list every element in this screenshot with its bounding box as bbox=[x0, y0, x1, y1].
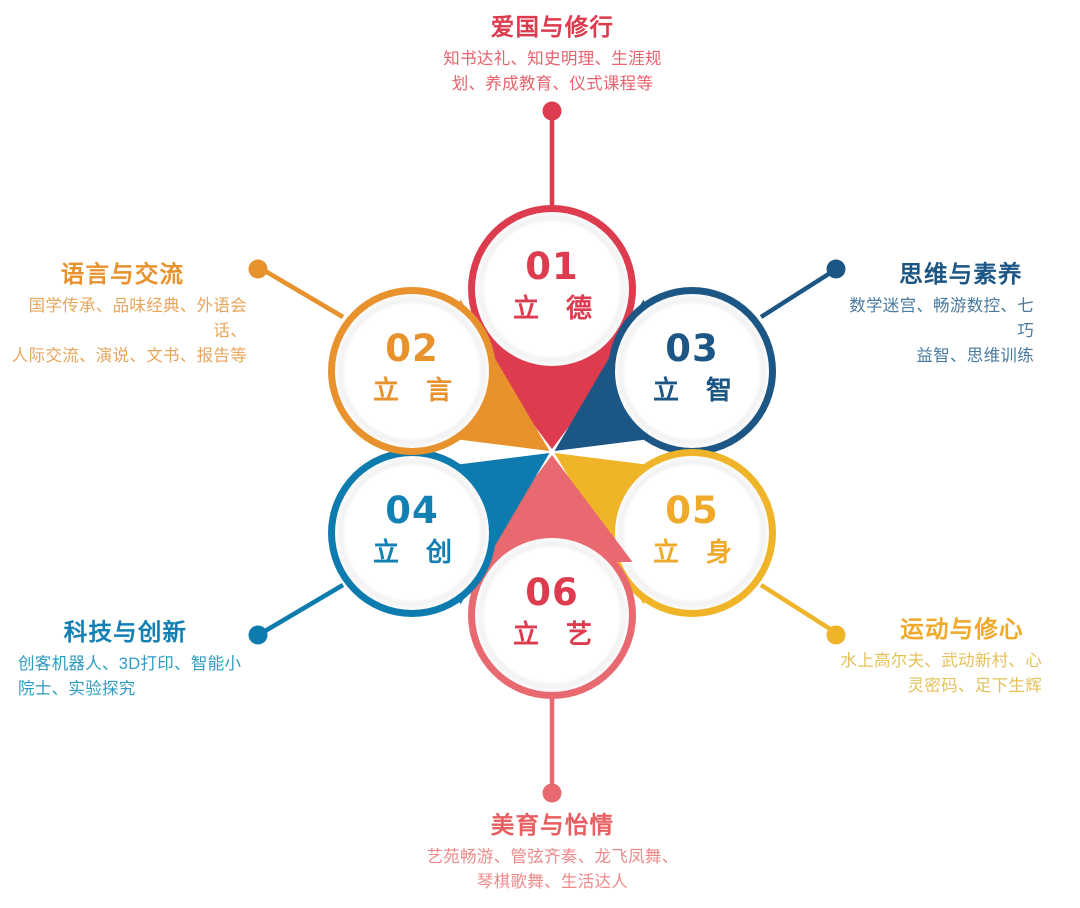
connector-line-02 bbox=[260, 268, 343, 317]
petal-03-word: 立 智 bbox=[653, 375, 741, 406]
label-desc-bottom-line2: 琴棋歌舞、生活达人 bbox=[390, 870, 715, 895]
petal-03-inner bbox=[615, 294, 769, 448]
petal-04-inner bbox=[335, 456, 489, 610]
petal-06-word: 立 艺 bbox=[513, 619, 601, 650]
label-title-top: 爱国与修行 bbox=[390, 8, 715, 42]
label-group-top: 爱国与修行 知书达礼、知史明理、生涯规 划、养成教育、仪式课程等 bbox=[390, 8, 715, 97]
label-desc-top-line2: 划、养成教育、仪式课程等 bbox=[390, 72, 715, 97]
connector-line-03 bbox=[761, 268, 838, 317]
diagram-canvas: 01 立 德 03 立 智 05 立 身 bbox=[0, 0, 1080, 908]
label-group-lower-right: 运动与修心 水上高尔夫、武动新村、心 灵密码、足下生辉 bbox=[838, 610, 1080, 699]
connector-dot-02 bbox=[249, 260, 268, 279]
petal-02-inner bbox=[335, 294, 489, 448]
label-title-lower-left: 科技与创新 bbox=[2, 613, 249, 647]
label-title-bottom: 美育与怡情 bbox=[390, 806, 715, 840]
petal-01-word: 立 德 bbox=[513, 293, 601, 324]
label-group-upper-left: 语言与交流 国学传承、品味经典、外语会话、 人际交流、演说、文书、报告等 bbox=[2, 255, 247, 369]
petal-06-number: 06 bbox=[525, 571, 579, 614]
label-title-lower-right: 运动与修心 bbox=[838, 610, 1080, 644]
connector-line-05 bbox=[761, 585, 838, 634]
label-title-upper-left: 语言与交流 bbox=[2, 255, 247, 289]
label-desc-upper-left-line1: 国学传承、品味经典、外语会话、 bbox=[2, 294, 247, 344]
label-desc-upper-right-line2: 益智、思维训练 bbox=[838, 344, 1080, 369]
connector-dot-04 bbox=[249, 626, 268, 645]
petal-04-word: 立 创 bbox=[373, 537, 461, 568]
petal-02-number: 02 bbox=[385, 327, 439, 370]
petal-04-number: 04 bbox=[385, 489, 439, 532]
petal-03-number: 03 bbox=[665, 327, 719, 370]
label-group-upper-right: 思维与素养 数学迷宫、畅游数控、七巧 益智、思维训练 bbox=[838, 255, 1080, 369]
petal-05-inner bbox=[615, 456, 769, 610]
petal-01-number: 01 bbox=[525, 245, 579, 288]
label-title-upper-right: 思维与素养 bbox=[838, 255, 1080, 289]
label-desc-top-line1: 知书达礼、知史明理、生涯规 bbox=[390, 47, 715, 72]
label-desc-upper-right-line1: 数学迷宫、畅游数控、七巧 bbox=[838, 294, 1080, 344]
label-group-bottom: 美育与怡情 艺苑畅游、管弦齐奏、龙飞凤舞、 琴棋歌舞、生活达人 bbox=[390, 806, 715, 895]
connector-dot-01 bbox=[543, 102, 562, 121]
connector-line-04 bbox=[260, 585, 343, 634]
label-desc-upper-left-line2: 人际交流、演说、文书、报告等 bbox=[2, 344, 247, 369]
label-desc-lower-left-line2: 院士、实验探究 bbox=[2, 677, 249, 702]
petal-06-inner bbox=[475, 538, 629, 692]
label-group-lower-left: 科技与创新 创客机器人、3D打印、智能小 院士、实验探究 bbox=[2, 613, 249, 702]
label-desc-lower-left-line1: 创客机器人、3D打印、智能小 bbox=[2, 652, 249, 677]
petal-02-word: 立 言 bbox=[373, 375, 461, 406]
petal-flower-svg: 01 立 德 03 立 智 05 立 身 bbox=[0, 0, 1080, 908]
label-desc-lower-right-line1: 水上高尔夫、武动新村、心 bbox=[838, 649, 1080, 674]
petal-05-number: 05 bbox=[665, 489, 719, 532]
petal-01-inner bbox=[475, 212, 629, 366]
label-desc-lower-right-line2: 灵密码、足下生辉 bbox=[838, 674, 1080, 699]
label-desc-bottom-line1: 艺苑畅游、管弦齐奏、龙飞凤舞、 bbox=[390, 845, 715, 870]
petal-05-word: 立 身 bbox=[653, 537, 741, 568]
connector-dot-06 bbox=[543, 784, 562, 803]
